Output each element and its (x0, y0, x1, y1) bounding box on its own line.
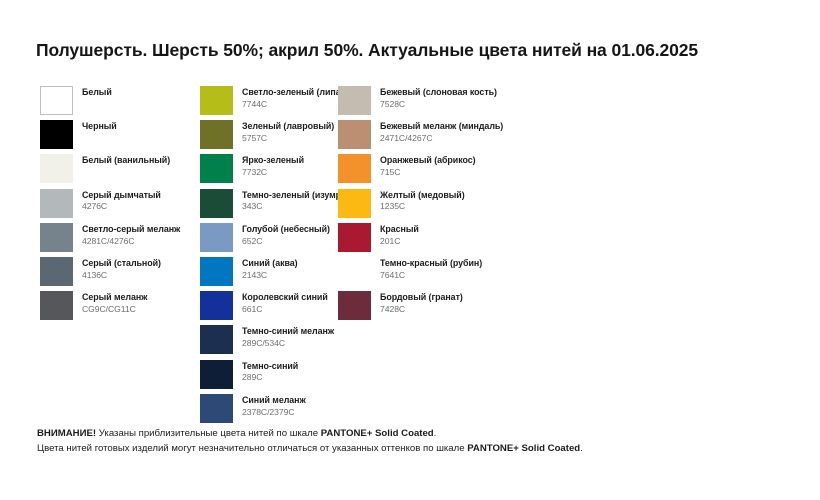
color-swatch[interactable] (200, 394, 233, 423)
swatch-name: Королевский синий (242, 293, 328, 302)
swatch-labels: Королевский синий661C (242, 291, 328, 314)
swatch-name: Светло-зеленый (липа) (242, 88, 344, 97)
swatch-labels: Серый дымчатый4276C (82, 189, 161, 212)
swatch-labels: Оранжевый (абрикос)715C (380, 154, 476, 177)
color-swatch[interactable] (40, 291, 73, 320)
swatch-row[interactable]: Белый (40, 86, 200, 120)
color-swatch[interactable] (40, 120, 73, 149)
color-swatch[interactable] (338, 86, 371, 115)
swatch-labels: Голубой (небесный)652C (242, 223, 330, 246)
color-swatch[interactable] (200, 360, 233, 389)
swatch-column-warm-reds: Бежевый (слоновая кость)7528CБежевый мел… (338, 86, 538, 325)
footer-notes: ВНИМАНИЕ! Указаны приблизительные цвета … (37, 427, 787, 457)
swatch-row[interactable]: Бордовый (гранат)7428C (338, 291, 538, 325)
color-swatch[interactable] (338, 120, 371, 149)
swatch-name: Бежевый меланж (миндаль) (380, 122, 503, 131)
color-swatch[interactable] (40, 257, 73, 286)
swatch-row[interactable]: Желтый (медовый)1235C (338, 189, 538, 223)
color-swatch[interactable] (200, 325, 233, 354)
swatch-pantone-code: CG9C/CG11C (82, 305, 147, 314)
swatch-pantone-code: 661C (242, 305, 328, 314)
swatch-pantone-code: 4281C/4276C (82, 237, 180, 246)
swatch-labels: Синий (аква)2143C (242, 257, 298, 280)
swatch-pantone-code: 4276C (82, 202, 161, 211)
color-swatch[interactable] (200, 189, 233, 218)
swatch-row[interactable]: Бежевый (слоновая кость)7528C (338, 86, 538, 120)
swatch-name: Синий (аква) (242, 259, 298, 268)
swatch-row[interactable]: Красный201C (338, 223, 538, 257)
footer-line-2-text: Цвета нитей готовых изделий могут незнач… (37, 443, 467, 454)
swatch-pantone-code: 715C (380, 168, 476, 177)
swatch-name: Красный (380, 225, 419, 234)
swatch-pantone-code: 7744C (242, 100, 344, 109)
swatch-row[interactable]: Серый меланжCG9C/CG11C (40, 291, 200, 325)
swatch-labels: Бежевый меланж (миндаль)2471C/4267C (380, 120, 503, 143)
swatch-labels: Белый (82, 86, 112, 97)
swatch-labels: Желтый (медовый)1235C (380, 189, 465, 212)
swatch-name: Ярко-зеленый (242, 156, 304, 165)
color-swatch[interactable] (200, 86, 233, 115)
swatch-row[interactable]: Ярко-зеленый7732C (200, 154, 338, 188)
footer-line-2-end: . (580, 443, 583, 454)
swatch-name: Бежевый (слоновая кость) (380, 88, 497, 97)
swatch-name: Темно-синий (242, 362, 298, 371)
swatch-pantone-code: 2378C/2379C (242, 408, 306, 417)
footer-attention-label: ВНИМАНИЕ! (37, 428, 96, 439)
color-swatch[interactable] (338, 291, 371, 320)
color-swatch[interactable] (40, 223, 73, 252)
swatch-pantone-code: 1235C (380, 202, 465, 211)
swatch-labels: Черный (82, 120, 117, 131)
swatch-row[interactable]: Светло-зеленый (липа)7744C (200, 86, 338, 120)
swatch-labels: Бежевый (слоновая кость)7528C (380, 86, 497, 109)
color-swatch[interactable] (40, 189, 73, 218)
swatch-row[interactable]: Серый дымчатый4276C (40, 189, 200, 223)
swatch-pantone-code: 2471C/4267C (380, 134, 503, 143)
swatch-name: Белый (ванильный) (82, 156, 170, 165)
swatch-labels: Красный201C (380, 223, 419, 246)
footer-line-2: Цвета нитей готовых изделий могут незнач… (37, 442, 787, 457)
color-swatch[interactable] (338, 189, 371, 218)
color-swatch[interactable] (200, 120, 233, 149)
swatch-row[interactable]: Черный (40, 120, 200, 154)
swatch-row[interactable]: Серый (стальной)4136C (40, 257, 200, 291)
swatch-labels: Синий меланж2378C/2379C (242, 394, 306, 417)
color-chart-page: Полушерсть. Шерсть 50%; акрил 50%. Актуа… (0, 0, 820, 500)
swatch-name: Темно-синий меланж (242, 327, 334, 336)
swatch-row[interactable]: Голубой (небесный)652C (200, 223, 338, 257)
swatch-name: Желтый (медовый) (380, 191, 465, 200)
footer-line-1: ВНИМАНИЕ! Указаны приблизительные цвета … (37, 427, 787, 442)
swatch-columns: БелыйЧерныйБелый (ванильный)Серый дымчат… (40, 86, 800, 428)
swatch-labels: Ярко-зеленый7732C (242, 154, 304, 177)
swatch-pantone-code: 7528C (380, 100, 497, 109)
color-swatch[interactable] (338, 257, 371, 286)
swatch-labels: Темно-синий289C (242, 360, 298, 383)
color-swatch[interactable] (40, 86, 73, 115)
swatch-name: Голубой (небесный) (242, 225, 330, 234)
color-swatch[interactable] (338, 223, 371, 252)
color-swatch[interactable] (40, 154, 73, 183)
swatch-labels: Темно-красный (рубин)7641C (380, 257, 482, 280)
swatch-pantone-code: 7641C (380, 271, 482, 280)
swatch-name: Темно-красный (рубин) (380, 259, 482, 268)
swatch-name: Черный (82, 122, 117, 131)
swatch-pantone-code: 7428C (380, 305, 463, 314)
color-swatch[interactable] (200, 154, 233, 183)
swatch-row[interactable]: Бежевый меланж (миндаль)2471C/4267C (338, 120, 538, 154)
swatch-labels: Светло-зеленый (липа)7744C (242, 86, 344, 109)
swatch-labels: Серый (стальной)4136C (82, 257, 161, 280)
swatch-labels: Бордовый (гранат)7428C (380, 291, 463, 314)
swatch-name: Серый меланж (82, 293, 147, 302)
swatch-row[interactable]: Темно-зеленый (изумруд)343C (200, 189, 338, 223)
swatch-row[interactable]: Темно-синий289C (200, 360, 338, 394)
swatch-labels: Зеленый (лавровый)5757C (242, 120, 334, 143)
swatch-pantone-code: 7732C (242, 168, 304, 177)
swatch-row[interactable]: Белый (ванильный) (40, 154, 200, 188)
swatch-name: Оранжевый (абрикос) (380, 156, 476, 165)
swatch-name: Серый (стальной) (82, 259, 161, 268)
footer-line-1-end: . (434, 428, 437, 439)
swatch-pantone-code: 289C/534C (242, 339, 334, 348)
color-swatch[interactable] (200, 223, 233, 252)
swatch-row[interactable]: Темно-красный (рубин)7641C (338, 257, 538, 291)
swatch-pantone-code: 201C (380, 237, 419, 246)
swatch-pantone-code: 652C (242, 237, 330, 246)
page-title: Полушерсть. Шерсть 50%; акрил 50%. Актуа… (36, 40, 698, 61)
swatch-column-greens-blues: Светло-зеленый (липа)7744CЗеленый (лавро… (200, 86, 338, 428)
swatch-column-neutrals: БелыйЧерныйБелый (ванильный)Серый дымчат… (40, 86, 200, 325)
swatch-labels: Серый меланжCG9C/CG11C (82, 291, 147, 314)
swatch-row[interactable]: Зеленый (лавровый)5757C (200, 120, 338, 154)
swatch-name: Серый дымчатый (82, 191, 161, 200)
swatch-row[interactable]: Королевский синий661C (200, 291, 338, 325)
swatch-pantone-code: 289C (242, 373, 298, 382)
color-swatch[interactable] (338, 154, 371, 183)
footer-line-1-text: Указаны приблизительные цвета нитей по ш… (96, 428, 321, 439)
swatch-name: Зеленый (лавровый) (242, 122, 334, 131)
footer-brand-2: PANTONE+ Solid Coated (467, 443, 580, 454)
swatch-name: Синий меланж (242, 396, 306, 405)
swatch-row[interactable]: Светло-серый меланж4281C/4276C (40, 223, 200, 257)
swatch-labels: Темно-синий меланж289C/534C (242, 325, 334, 348)
swatch-labels: Светло-серый меланж4281C/4276C (82, 223, 180, 246)
swatch-name: Бордовый (гранат) (380, 293, 463, 302)
swatch-pantone-code: 2143C (242, 271, 298, 280)
color-swatch[interactable] (200, 257, 233, 286)
color-swatch[interactable] (200, 291, 233, 320)
swatch-name: Белый (82, 88, 112, 97)
swatch-row[interactable]: Темно-синий меланж289C/534C (200, 325, 338, 359)
footer-brand-1: PANTONE+ Solid Coated (321, 428, 434, 439)
swatch-pantone-code: 5757C (242, 134, 334, 143)
swatch-row[interactable]: Синий меланж2378C/2379C (200, 394, 338, 428)
swatch-row[interactable]: Синий (аква)2143C (200, 257, 338, 291)
swatch-name: Светло-серый меланж (82, 225, 180, 234)
swatch-pantone-code: 4136C (82, 271, 161, 280)
swatch-row[interactable]: Оранжевый (абрикос)715C (338, 154, 538, 188)
swatch-labels: Белый (ванильный) (82, 154, 170, 165)
